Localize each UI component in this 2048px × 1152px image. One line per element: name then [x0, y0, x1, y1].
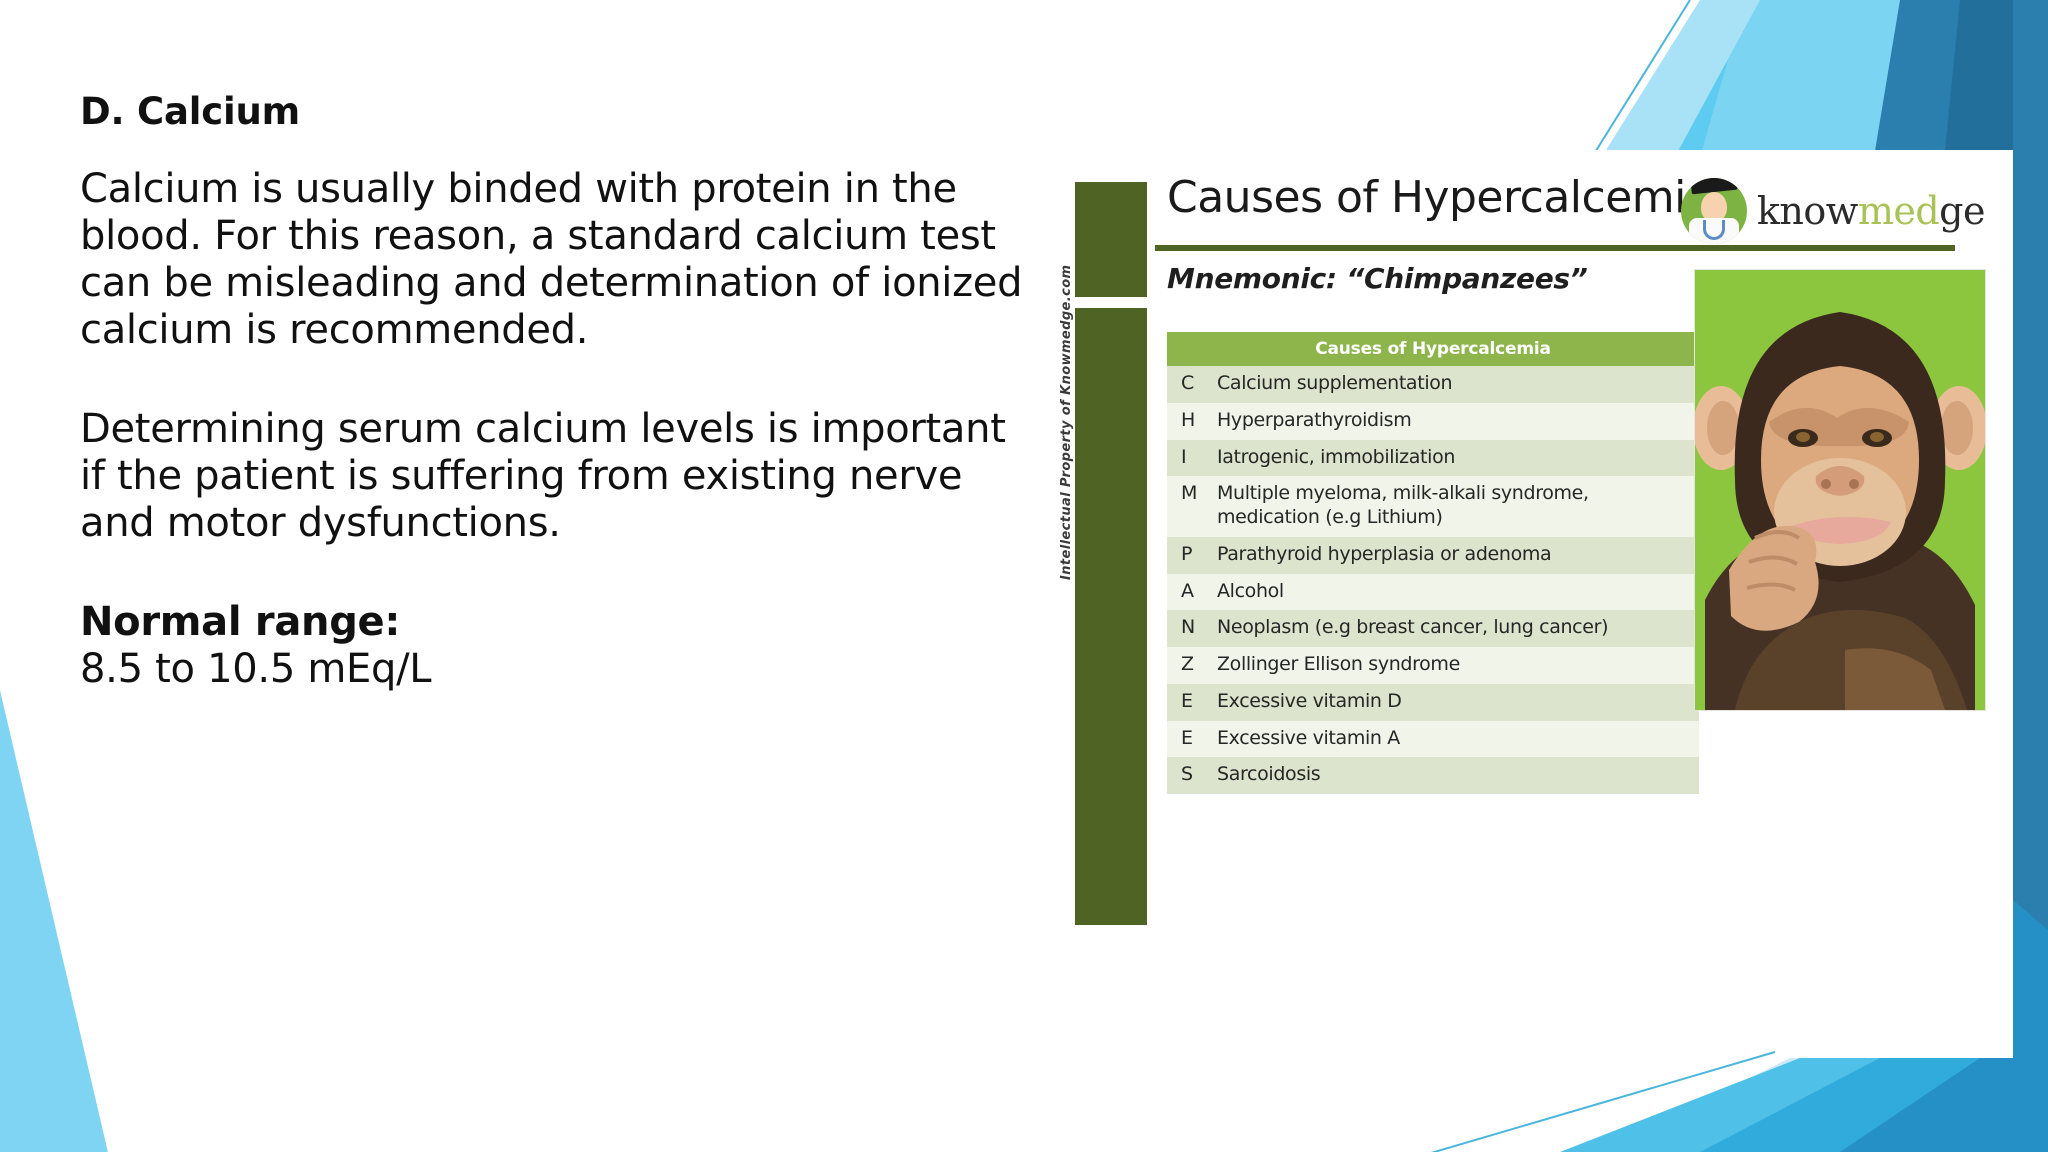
table-row: MMultiple myeloma, milk-alkali syndrome,… [1167, 476, 1699, 537]
table-cell-cause: Sarcoidosis [1213, 757, 1699, 794]
table-row: ZZollinger Ellison syndrome [1167, 647, 1699, 684]
table-cell-cause: Iatrogenic, immobilization [1213, 440, 1699, 477]
table-header-row: Causes of Hypercalcemia [1167, 332, 1699, 366]
card-mnemonic: Mnemonic: “Chimpanzees” [1167, 262, 1588, 295]
table-cell-letter: S [1167, 757, 1213, 794]
slide-text-column: D. Calcium Calcium is usually binded wit… [80, 90, 1035, 693]
table-cell-letter: M [1167, 476, 1213, 537]
hypercalcemia-reference-card: Intellectual Property of Knowmedge.com C… [1055, 150, 2013, 968]
knowmedge-wordmark: knowmedge [1757, 189, 1985, 233]
doctor-graduate-avatar-icon [1681, 178, 1747, 244]
title-divider [1155, 245, 1955, 251]
table-cell-cause: Excessive vitamin D [1213, 684, 1699, 721]
table-cell-cause: Alcohol [1213, 574, 1699, 611]
table-row: SSarcoidosis [1167, 757, 1699, 794]
table-row: HHyperparathyroidism [1167, 403, 1699, 440]
table-cell-cause: Neoplasm (e.g breast cancer, lung cancer… [1213, 610, 1699, 647]
table-row: NNeoplasm (e.g breast cancer, lung cance… [1167, 610, 1699, 647]
logo-part-med: med [1858, 189, 1939, 233]
range-spacer [80, 547, 1035, 599]
paragraph-spacer [80, 354, 1035, 406]
table-cell-letter: A [1167, 574, 1213, 611]
table-row: EExcessive vitamin A [1167, 721, 1699, 758]
table-header-cell: Causes of Hypercalcemia [1167, 332, 1699, 366]
page-title: D. Calcium [80, 90, 1035, 133]
table-cell-letter: E [1167, 684, 1213, 721]
causes-table-body: CCalcium supplementationHHyperparathyroi… [1167, 366, 1699, 794]
table-cell-letter: E [1167, 721, 1213, 758]
table-row: AAlcohol [1167, 574, 1699, 611]
table-row: CCalcium supplementation [1167, 366, 1699, 403]
table-cell-letter: C [1167, 366, 1213, 403]
causes-table: Causes of Hypercalcemia CCalcium supplem… [1167, 332, 1699, 794]
table-cell-letter: N [1167, 610, 1213, 647]
logo-part-ge: ge [1939, 189, 1985, 233]
table-cell-letter: Z [1167, 647, 1213, 684]
table-cell-cause: Multiple myeloma, milk-alkali syndrome, … [1213, 476, 1699, 537]
normal-range-value: 8.5 to 10.5 mEq/L [80, 646, 1035, 693]
table-cell-cause: Excessive vitamin A [1213, 721, 1699, 758]
paragraph-serum-levels: Determining serum calcium levels is impo… [80, 406, 1035, 547]
table-cell-cause: Parathyroid hyperplasia or adenoma [1213, 537, 1699, 574]
table-row: IIatrogenic, immobilization [1167, 440, 1699, 477]
table-cell-cause: Zollinger Ellison syndrome [1213, 647, 1699, 684]
normal-range-label: Normal range: [80, 599, 1035, 646]
knowmedge-logo: knowmedge [1681, 178, 1985, 244]
table-row: EExcessive vitamin D [1167, 684, 1699, 721]
table-cell-letter: I [1167, 440, 1213, 477]
chimpanzee-photo [1695, 270, 1985, 710]
logo-part-know: know [1757, 189, 1858, 233]
table-cell-letter: P [1167, 537, 1213, 574]
card-title: Causes of Hypercalcemia [1167, 172, 1712, 223]
watermark-text: Intellectual Property of Knowmedge.com [1059, 562, 1074, 580]
table-cell-letter: H [1167, 403, 1213, 440]
table-cell-cause: Hyperparathyroidism [1213, 403, 1699, 440]
olive-accent-bar-top [1075, 182, 1147, 297]
table-cell-cause: Calcium supplementation [1213, 366, 1699, 403]
paragraph-calcium-binding: Calcium is usually binded with protein i… [80, 166, 1035, 354]
table-row: PParathyroid hyperplasia or adenoma [1167, 537, 1699, 574]
olive-accent-bar-bottom [1075, 308, 1147, 925]
